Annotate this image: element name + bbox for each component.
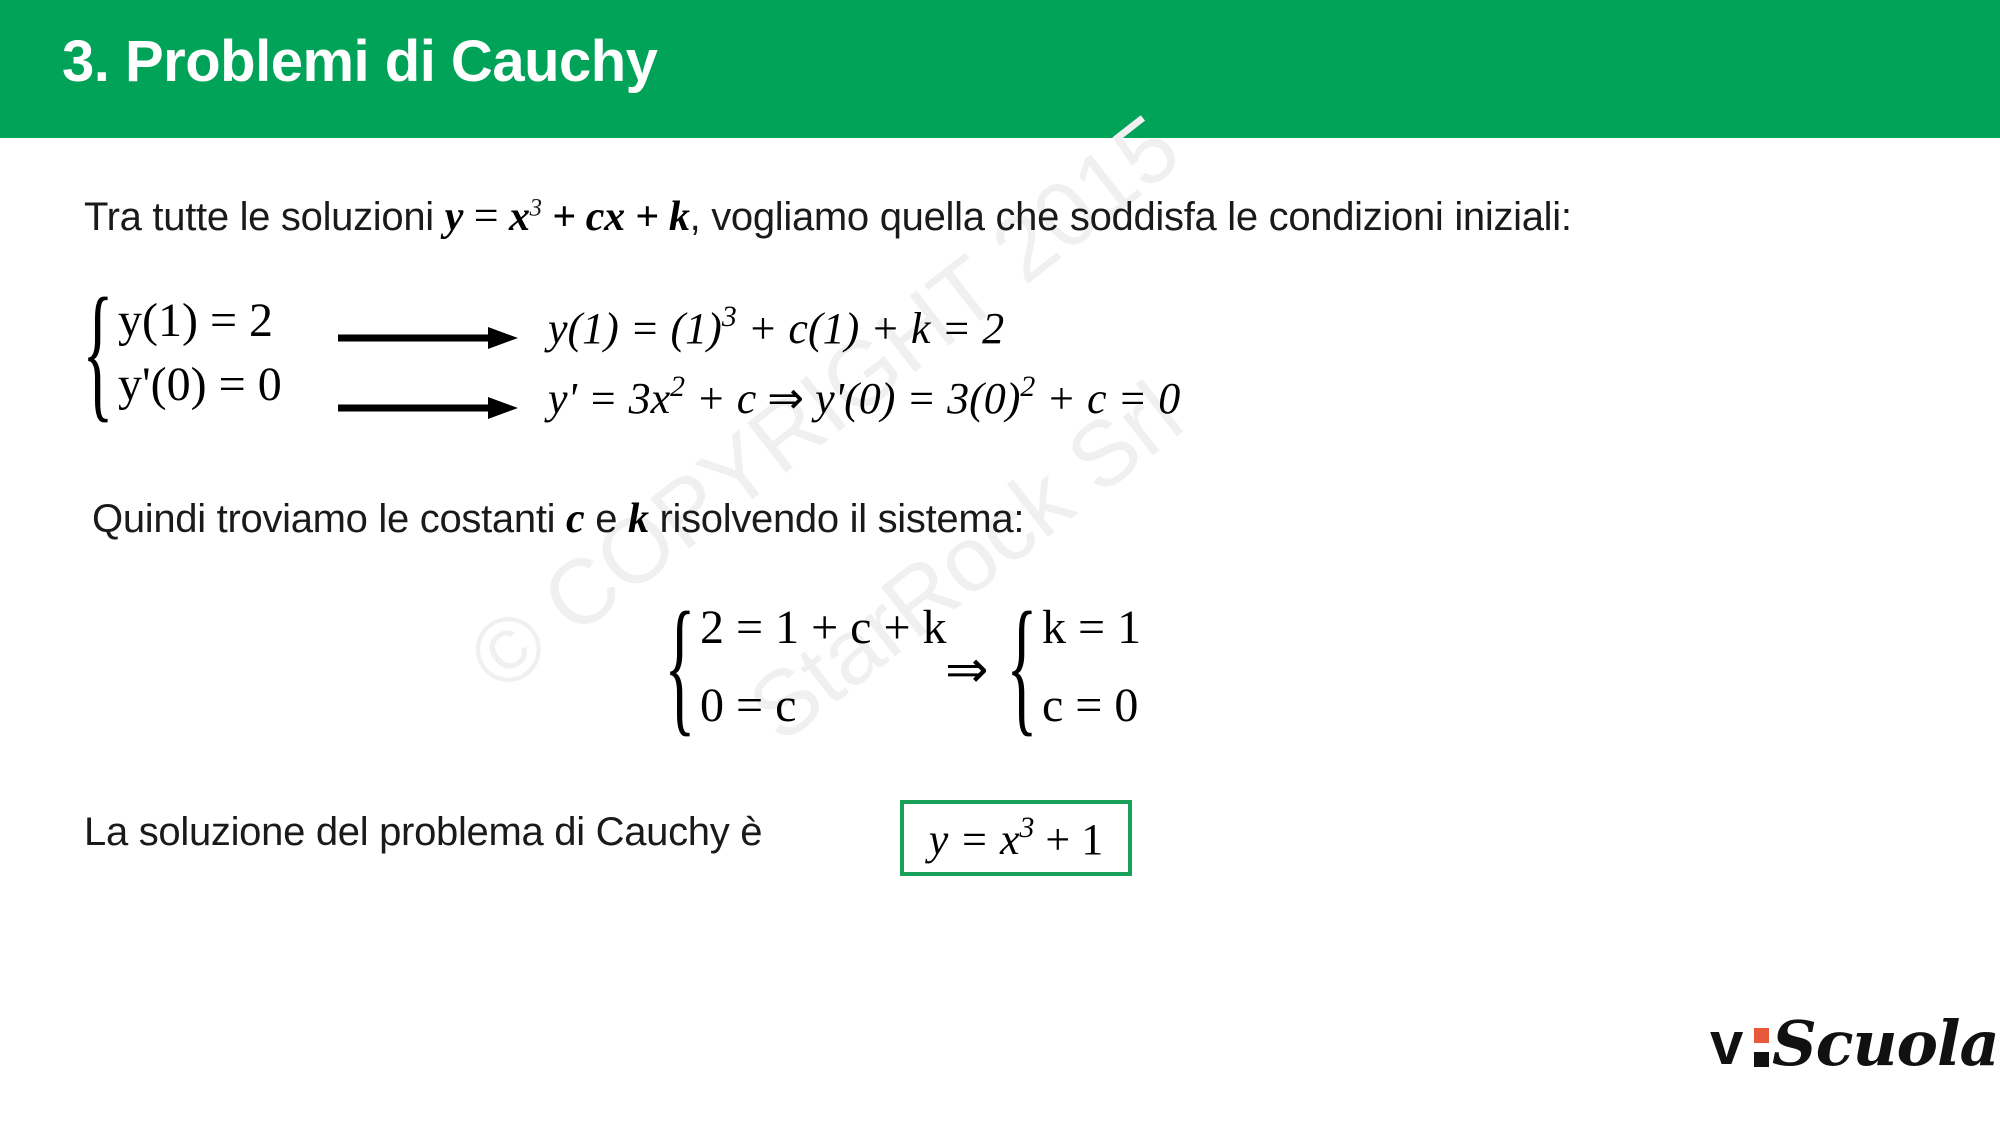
derivation-1-part-b: + c(1) + k = 2 bbox=[737, 304, 1004, 353]
derivation-2-part-b: + c bbox=[685, 374, 767, 423]
system-solve-left-rows: 2 = 1 + c + k 0 = c bbox=[700, 592, 947, 742]
intro-formula-equals: = bbox=[463, 191, 509, 240]
intro-formula-x: x bbox=[509, 194, 530, 240]
answer-box: y = x3 + 1 bbox=[900, 800, 1132, 876]
conclusion-text: La soluzione del problema di Cauchy è bbox=[84, 810, 762, 855]
quindi-var-k: k bbox=[628, 496, 649, 542]
system-solve-right-row-1: k = 1 bbox=[1042, 589, 1141, 667]
derivation-2-exponent-2: 2 bbox=[1020, 370, 1035, 403]
intro-formula-tail: + cx + k bbox=[542, 194, 690, 240]
derivation-2-implies-symbol: ⇒ bbox=[767, 374, 804, 423]
logo-colon-bottom-square-icon bbox=[1754, 1052, 1769, 1067]
system-solve-left-row-2: 0 = c bbox=[700, 667, 947, 745]
quindi-middle: e bbox=[584, 497, 628, 541]
system-solve-left-brace: { bbox=[660, 607, 700, 727]
brand-logo: v Scuola bbox=[1710, 1000, 1980, 1090]
system-solve-left: { 2 = 1 + c + k 0 = c bbox=[660, 592, 947, 742]
quindi-prefix: Quindi troviamo le costanti bbox=[92, 497, 566, 541]
intro-formula-y: y bbox=[445, 194, 463, 240]
intro-paragraph: Tra tutte le soluzioni y = x3 + cx + k, … bbox=[84, 190, 1572, 241]
slide-canvas: 3. Problemi di Cauchy © COPYRIGHT 2015 S… bbox=[0, 0, 2000, 1125]
derivation-2-part-a: y' = 3x bbox=[548, 374, 670, 423]
system-initial-conditions: { y(1) = 2 y'(0) = 0 bbox=[78, 288, 282, 418]
system-solve-right-rows: k = 1 c = 0 bbox=[1042, 592, 1141, 742]
intro-prefix: Tra tutte le soluzioni bbox=[84, 195, 445, 239]
intro-suffix: , vogliamo quella che soddisfa le condiz… bbox=[690, 195, 1572, 239]
right-arrow-icon-2 bbox=[338, 395, 518, 421]
answer-rhs: + 1 bbox=[1034, 815, 1103, 864]
logo-wordmark: Scuola bbox=[1772, 1002, 1999, 1086]
derivation-1-exponent: 3 bbox=[722, 300, 737, 333]
page-title: 3. Problemi di Cauchy bbox=[62, 28, 657, 95]
quindi-suffix: risolvendo il sistema: bbox=[649, 497, 1024, 541]
system-solve-implies-symbol: ⇒ bbox=[945, 640, 989, 700]
derivation-1-part-a: y(1) = (1) bbox=[548, 304, 722, 353]
answer-exponent: 3 bbox=[1020, 811, 1035, 844]
system-initial-brace: { bbox=[78, 293, 118, 413]
quindi-paragraph: Quindi troviamo le costanti c e k risolv… bbox=[92, 495, 1024, 543]
system-solve-right: { k = 1 c = 0 bbox=[1002, 592, 1141, 742]
system-solve-right-row-2: c = 0 bbox=[1042, 667, 1141, 745]
system-solve-right-brace: { bbox=[1002, 607, 1042, 727]
quindi-var-c: c bbox=[566, 496, 584, 542]
derivation-2-part-c: y'(0) = 3(0) bbox=[804, 374, 1020, 423]
right-arrow-icon-1 bbox=[338, 325, 518, 351]
system-initial-row-2: y'(0) = 0 bbox=[118, 353, 282, 417]
logo-v-mark: v bbox=[1710, 1014, 1743, 1074]
logo-colon-top-square-icon bbox=[1754, 1028, 1769, 1043]
derivation-2-part-d: + c = 0 bbox=[1035, 374, 1180, 423]
answer-lhs: y = x bbox=[929, 815, 1020, 864]
system-initial-row-1: y(1) = 2 bbox=[118, 289, 282, 353]
answer-equation: y = x3 + 1 bbox=[929, 811, 1103, 866]
system-solve-left-row-1: 2 = 1 + c + k bbox=[700, 589, 947, 667]
intro-formula-exponent: 3 bbox=[530, 195, 542, 222]
derivation-2-exponent-1: 2 bbox=[670, 370, 685, 403]
system-initial-rows: y(1) = 2 y'(0) = 0 bbox=[118, 288, 282, 418]
derivation-line-1: y(1) = (1)3 + c(1) + k = 2 bbox=[548, 300, 1004, 355]
derivation-line-2: y' = 3x2 + c ⇒ y'(0) = 3(0)2 + c = 0 bbox=[548, 370, 1180, 425]
